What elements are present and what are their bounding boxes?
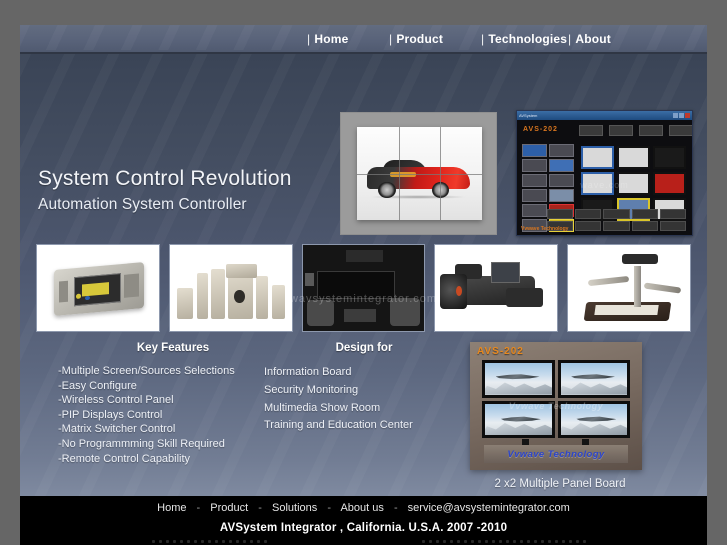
- page-container: |Home |Product |Technologies |About Syst…: [20, 25, 707, 545]
- bezel-line-horizontal: [357, 174, 482, 175]
- nav-items: |Home |Product |Technologies |About: [307, 25, 638, 52]
- avs-202-panel-board-image: AVS-202: [470, 342, 642, 470]
- source-thumbnail: [522, 159, 547, 172]
- footer-dot-decoration: [420, 540, 590, 543]
- product-image-wireless-touch-panel-controller: [36, 244, 160, 332]
- software-button: [603, 209, 629, 219]
- product-image-home-theater-room: [302, 244, 426, 332]
- top-navigation-bar: |Home |Product |Technologies |About: [20, 25, 707, 54]
- fighter-jet-graphic: [501, 416, 541, 422]
- nav-item-technologies[interactable]: |Technologies: [481, 32, 568, 46]
- software-button: [632, 209, 658, 219]
- avs-screen-cell: [482, 360, 555, 398]
- footer-dot-decoration: [150, 540, 270, 543]
- page-title: System Control Revolution: [38, 167, 292, 191]
- nav-separator-bar: |: [307, 32, 310, 46]
- close-icon: [685, 113, 690, 118]
- main-content-area: System Control Revolution Automation Sys…: [20, 54, 707, 496]
- product-image-strip: [36, 244, 691, 332]
- wall-picture: [305, 273, 314, 287]
- avs-brand-bar: Vvwave Technology: [484, 445, 628, 463]
- list-item: Information Board: [264, 364, 413, 382]
- page-subtitle: Automation System Controller: [38, 196, 292, 214]
- product-image-video-camcorder: [434, 244, 558, 332]
- footer-link-solutions[interactable]: Solutions: [272, 502, 317, 514]
- document-camera-light-arm: [587, 276, 629, 286]
- video-wall-hero-image: [340, 112, 497, 235]
- list-item: Training and Education Center: [264, 417, 413, 435]
- list-item: -Easy Configure: [58, 379, 235, 394]
- software-button: [547, 209, 573, 219]
- document-camera-stage: [594, 305, 659, 315]
- speaker-top-module: [226, 264, 258, 278]
- list-item: -Remote Control Capability: [58, 452, 235, 467]
- nav-item-product[interactable]: |Product: [389, 32, 481, 46]
- software-button: [669, 125, 693, 136]
- source-thumbnail: [549, 144, 574, 157]
- software-logo: AVS-202: [523, 126, 558, 133]
- key-features-title: Key Features: [98, 342, 248, 354]
- document-camera-head: [622, 254, 659, 264]
- source-thumbnail: [522, 189, 547, 202]
- software-button: [660, 209, 686, 219]
- avs-brand-label: Vvwave Technology: [507, 449, 604, 460]
- footer-link-product[interactable]: Product: [210, 502, 248, 514]
- touch-panel-body: [54, 262, 144, 316]
- fighter-jet-graphic: [496, 374, 540, 380]
- footer-separator: -: [387, 502, 405, 514]
- mountain-graphic: [558, 376, 631, 394]
- list-item: -Wireless Control Panel: [58, 393, 235, 408]
- software-button: [609, 125, 633, 136]
- fighter-jet-graphic: [571, 374, 615, 380]
- video-wall-screens: [357, 127, 482, 220]
- hero-headline: System Control Revolution Automation Sys…: [38, 167, 292, 214]
- window-controls: [673, 113, 690, 118]
- list-item: -PIP Displays Control: [58, 408, 235, 423]
- software-body: AVS-202: [517, 120, 692, 235]
- control-software-screenshot: AVSystem AVS-202: [516, 110, 693, 236]
- maximize-icon: [679, 113, 684, 118]
- footer-copyright: AVSystem Integrator , California. U.S.A.…: [20, 522, 707, 534]
- footer-link-email[interactable]: service@avsystemintegrator.com: [408, 502, 570, 514]
- software-top-buttons: [579, 125, 693, 136]
- key-features-list: -Multiple Screen/Sources Selections -Eas…: [58, 364, 235, 466]
- video-wall-bezel-grid: [357, 127, 482, 220]
- footer-link-about-us[interactable]: About us: [340, 502, 383, 514]
- source-thumbnail: [522, 204, 547, 217]
- nav-item-product-label: Product: [396, 32, 443, 46]
- avs-model-label: AVS-202: [477, 346, 524, 357]
- source-thumbnail: [549, 189, 574, 202]
- software-window-title: AVSystem: [519, 113, 537, 118]
- software-button: [660, 221, 686, 231]
- source-thumbnail: [549, 159, 574, 172]
- list-item: -No Programmming Skill Required: [58, 437, 235, 452]
- software-button: [603, 221, 629, 231]
- list-item: Multimedia Show Room: [264, 400, 413, 418]
- footer-separator: -: [251, 502, 269, 514]
- nav-item-about-label: About: [575, 32, 611, 46]
- nav-item-technologies-label: Technologies: [488, 32, 567, 46]
- list-item: -Multiple Screen/Sources Selections: [58, 364, 235, 379]
- nav-item-about[interactable]: |About: [568, 32, 638, 46]
- software-watermark: wave.com: [517, 180, 692, 190]
- avs-screen-grid: [482, 360, 630, 438]
- source-thumbnail: [522, 144, 547, 157]
- preview-cell: [617, 146, 650, 169]
- fighter-jet-graphic: [576, 416, 616, 422]
- hero-watermark: wavsystemintegrator.com: [20, 293, 707, 305]
- software-button: [575, 221, 601, 231]
- footer-link-home[interactable]: Home: [157, 502, 186, 514]
- avs-screen-cell: [558, 360, 631, 398]
- avs-caption: 2 x2 Multiple Panel Board: [460, 478, 660, 490]
- document-camera-light-arm: [643, 282, 680, 293]
- software-title-bar: AVSystem: [517, 111, 692, 120]
- footer-separator: -: [190, 502, 208, 514]
- ceiling-projector: [346, 250, 383, 262]
- software-brand-footer: Vvwave Technology: [521, 226, 568, 232]
- avs-watermark: Vvwave Technology: [470, 401, 642, 411]
- software-button: [639, 125, 663, 136]
- footer-link-row: Home - Product - Solutions - About us - …: [20, 502, 707, 514]
- minimize-icon: [673, 113, 678, 118]
- mountain-graphic: [482, 376, 555, 394]
- nav-item-home[interactable]: |Home: [307, 32, 389, 46]
- software-button: [632, 221, 658, 231]
- nav-separator-bar: |: [568, 32, 571, 46]
- design-for-list: Information Board Security Monitoring Mu…: [264, 364, 413, 435]
- product-image-document-camera: [567, 244, 691, 332]
- nav-item-home-label: Home: [314, 32, 348, 46]
- nav-separator-bar: |: [481, 32, 484, 46]
- footer-separator: -: [320, 502, 338, 514]
- software-button: [579, 125, 603, 136]
- nav-separator-bar: |: [389, 32, 392, 46]
- preview-cell: [653, 146, 686, 169]
- product-image-speaker-system: [169, 244, 293, 332]
- coffee-table: [344, 309, 376, 323]
- design-for-title: Design for: [304, 342, 424, 354]
- page-footer: Home - Product - Solutions - About us - …: [20, 496, 707, 545]
- list-item: -Matrix Switcher Control: [58, 422, 235, 437]
- software-button: [575, 209, 601, 219]
- list-item: Security Monitoring: [264, 382, 413, 400]
- camcorder-lcd-screen: [491, 262, 520, 283]
- preview-cell: [581, 146, 614, 169]
